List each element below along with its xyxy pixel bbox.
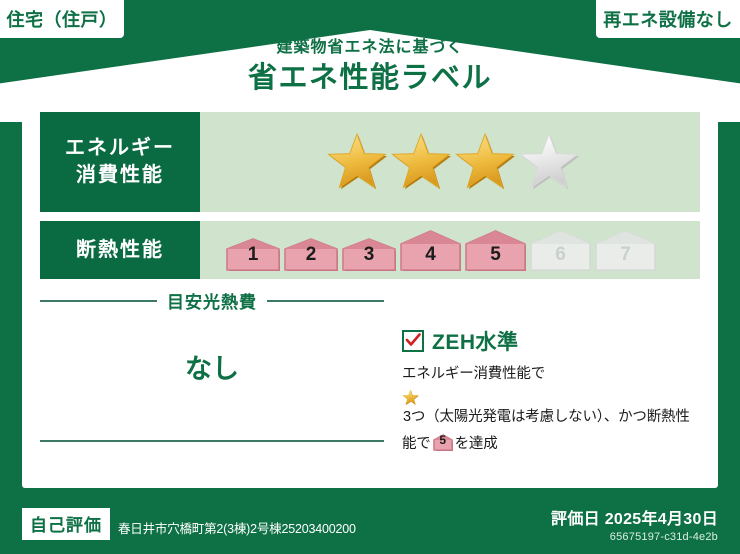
star-icon-empty	[518, 131, 580, 193]
inline-house-badge: 5	[433, 434, 453, 451]
footer: 自己評価 春日井市穴橋町第2(3棟)2号棟25203400200 評価日 202…	[0, 492, 740, 554]
lower-section: 目安光熱費 なし ZEH水準 エネルギー消費性能で3つ（太陽光発電は考慮しな	[40, 288, 700, 456]
utility-cost-heading: 目安光熱費	[40, 288, 384, 313]
house-icon-inactive	[530, 230, 591, 271]
insulation-performance-value: 1234567	[200, 221, 700, 279]
star-rating	[200, 131, 700, 193]
property-address: 春日井市穴橋町第2(3棟)2号棟25203400200	[118, 518, 356, 540]
insulation-level-scale: 1234567	[200, 230, 656, 271]
house-icon-active	[226, 238, 280, 271]
badge-building-type: 住宅（住戸）	[0, 0, 124, 38]
footer-right: 評価日 2025年4月30日 65675197-c31d-4e2b	[551, 505, 718, 543]
utility-cost-underline	[40, 440, 384, 442]
evaluation-date-label: 評価日	[551, 511, 600, 528]
evaluation-date: 評価日 2025年4月30日	[551, 505, 718, 529]
house-icon-active	[400, 230, 461, 271]
evaluation-date-value: 2025年4月30日	[605, 511, 718, 528]
house-icon-active	[433, 434, 453, 451]
heading-rule-right	[267, 300, 384, 302]
check-icon	[404, 331, 422, 349]
energy-performance-value	[200, 112, 700, 212]
star-icon-filled	[326, 131, 388, 193]
insulation-level-6: 6	[530, 230, 591, 271]
utility-cost-heading-text: 目安光熱費	[167, 288, 257, 313]
energy-label-line2: 消費性能	[76, 162, 164, 189]
house-icon-inactive	[595, 230, 656, 271]
star-icon-filled	[454, 131, 516, 193]
zeh-heading: ZEH水準	[402, 326, 700, 356]
badge-renewable-energy: 再エネ設備なし	[596, 0, 740, 38]
insulation-level-2: 2	[284, 238, 338, 271]
footer-left: 自己評価 春日井市穴橋町第2(3棟)2号棟25203400200	[22, 508, 356, 540]
zeh-desc-star-count: 3つ（太陽光発電	[403, 409, 511, 425]
insulation-level-4: 4	[400, 230, 461, 271]
zeh-description: エネルギー消費性能で3つ（太陽光発電は考慮しない）、かつ断熱性能で5を達成	[402, 363, 700, 456]
self-evaluation-badge: 自己評価	[22, 508, 110, 540]
star-icon-filled	[390, 131, 452, 193]
insulation-level-1: 1	[226, 238, 280, 271]
star-icon-filled	[402, 389, 419, 406]
evaluation-id: 65675197-c31d-4e2b	[551, 531, 718, 543]
heading-rule-left	[40, 300, 157, 302]
insulation-level-7: 7	[595, 230, 656, 271]
energy-performance-label: 住宅（住戸） 再エネ設備なし 建築物省エネ法に基づく 省エネ性能ラベル エネルギ…	[0, 0, 740, 554]
insulation-performance-row: 断熱性能 1234567	[40, 221, 700, 279]
zeh-desc-part3: を達成	[455, 436, 498, 452]
energy-performance-label: エネルギー 消費性能	[40, 112, 200, 212]
utility-cost-value: なし	[40, 347, 384, 386]
house-icon-active	[342, 238, 396, 271]
zeh-column: ZEH水準 エネルギー消費性能で3つ（太陽光発電は考慮しない）、かつ断熱性能で5…	[392, 288, 700, 456]
insulation-level-3: 3	[342, 238, 396, 271]
zeh-desc-part1: エネルギー消費性能で	[402, 366, 545, 382]
insulation-performance-label: 断熱性能	[40, 221, 200, 279]
utility-cost-column: 目安光熱費 なし	[40, 288, 392, 456]
insulation-level-5: 5	[465, 230, 526, 271]
energy-performance-row: エネルギー 消費性能	[40, 112, 700, 212]
zeh-title: ZEH水準	[432, 326, 519, 356]
house-icon-active	[465, 230, 526, 271]
inline-star-icon	[402, 389, 700, 406]
content-area: エネルギー 消費性能 断熱性能 1234567 目安光熱費	[22, 96, 718, 488]
energy-label-line1: エネルギー	[65, 135, 175, 162]
insulation-label-text: 断熱性能	[76, 237, 164, 264]
zeh-checkbox[interactable]	[402, 330, 424, 352]
house-icon-active	[284, 238, 338, 271]
